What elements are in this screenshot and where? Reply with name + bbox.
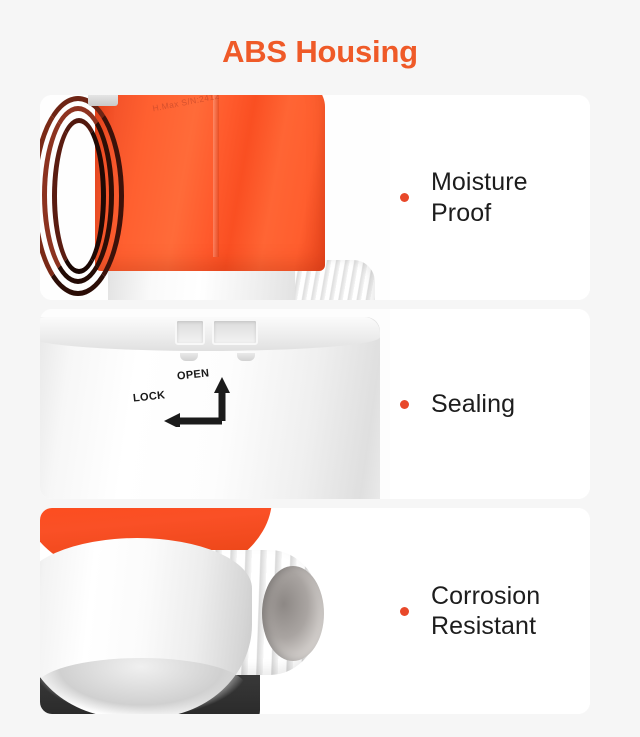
outlet-opening-shape bbox=[262, 566, 324, 661]
feature-text-corrosion-resistant: Corrosion Resistant bbox=[390, 508, 590, 714]
wire-connector-cap bbox=[88, 95, 118, 106]
bullet-dot-icon bbox=[400, 400, 409, 409]
feature-card-sealing[interactable]: OPEN LOCK Sealing bbox=[40, 309, 590, 499]
power-wire-bundle bbox=[40, 95, 140, 300]
wire-loop-inner bbox=[52, 118, 106, 274]
housing-tab-right bbox=[237, 353, 255, 361]
product-image-corrosion-resistant bbox=[40, 508, 390, 714]
product-feature-panel: ABS Housing H.Max S/N:2412 bbox=[0, 0, 640, 737]
bullet-dot-icon bbox=[400, 193, 409, 202]
pump-top-illustration: H.Max S/N:2412 bbox=[40, 95, 390, 300]
feature-card-list: H.Max S/N:2412 Moisture Proof bbox=[40, 95, 590, 723]
housing-slot-left bbox=[175, 319, 205, 345]
bullet-dot-icon bbox=[400, 607, 409, 616]
housing-tab-left bbox=[180, 353, 198, 361]
pump-base-shadow bbox=[40, 658, 246, 714]
feature-text-moisture-proof: Moisture Proof bbox=[390, 95, 590, 300]
feature-label-moisture-proof: Moisture Proof bbox=[431, 167, 590, 228]
feature-label-corrosion-resistant: Corrosion Resistant bbox=[431, 581, 590, 642]
housing-top-lip-shape bbox=[40, 317, 380, 351]
product-image-moisture-proof: H.Max S/N:2412 bbox=[40, 95, 390, 300]
feature-card-corrosion-resistant[interactable]: Corrosion Resistant bbox=[40, 508, 590, 714]
feature-label-sealing: Sealing bbox=[431, 389, 515, 420]
housing-slot-right bbox=[212, 319, 258, 345]
product-image-sealing: OPEN LOCK bbox=[40, 309, 390, 499]
page-title: ABS Housing bbox=[222, 34, 418, 70]
pump-body-edge-highlight bbox=[213, 95, 219, 257]
page-header: ABS Housing bbox=[0, 0, 640, 95]
lock-open-indicator: OPEN LOCK bbox=[132, 367, 262, 427]
feature-card-moisture-proof[interactable]: H.Max S/N:2412 Moisture Proof bbox=[40, 95, 590, 300]
feature-text-sealing: Sealing bbox=[390, 309, 590, 499]
